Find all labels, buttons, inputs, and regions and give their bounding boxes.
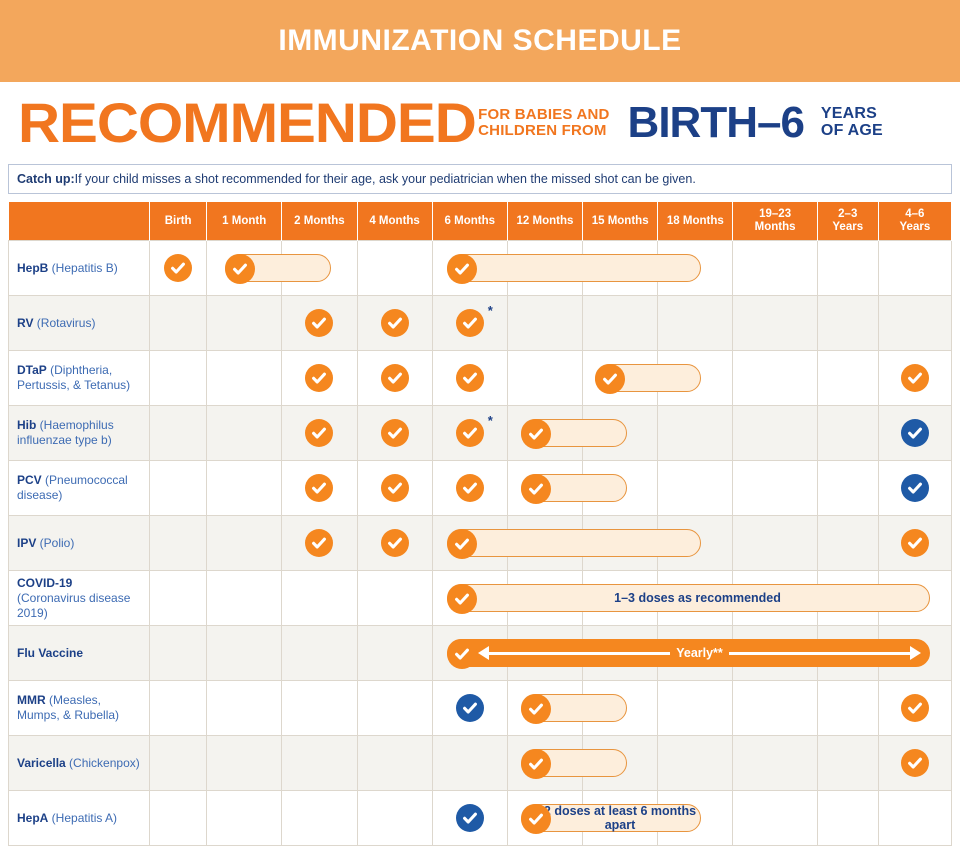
cell-ipv-19-23-months	[733, 516, 817, 571]
cell-content	[150, 241, 206, 295]
cell-mmr-4-months	[357, 681, 432, 736]
vaccine-abbr: Hib	[17, 418, 36, 432]
vaccine-label-hepa: HepA (Hepatitis A)	[9, 791, 150, 846]
vaccine-abbr: Varicella	[17, 756, 66, 770]
dose-check-orange-icon	[381, 419, 409, 447]
cell-mmr-2-months	[282, 681, 357, 736]
cell-mmr-2-3-years	[817, 681, 878, 736]
vaccine-abbr: COVID-19	[17, 576, 72, 590]
cell-hepa-2-months	[282, 791, 357, 846]
cell-ipv-15-months	[583, 516, 658, 571]
years-of-age-text: YEARS OF AGE	[821, 106, 883, 140]
vaccine-abbr: HepB	[17, 261, 48, 275]
table-row: DTaP (Diphtheria, Pertussis, & Tetanus)	[9, 351, 952, 406]
top-banner: IMMUNIZATION SCHEDULE	[0, 0, 960, 82]
cell-mmr-6-months	[432, 681, 507, 736]
vaccine-abbr: HepA	[17, 811, 48, 825]
years-line2: OF AGE	[821, 123, 883, 140]
table-header-row: Birth1 Month2 Months4 Months6 Months12 M…	[9, 202, 952, 241]
column-header-6-months: 6 Months	[432, 202, 507, 241]
vaccine-label-rv: RV (Rotavirus)	[9, 296, 150, 351]
cell-hib-2-months	[282, 406, 357, 461]
cell-rv-19-23-months	[733, 296, 817, 351]
dose-check-orange-icon	[381, 529, 409, 557]
dose-check-orange-icon	[901, 749, 929, 777]
cell-ipv-6-months	[432, 516, 507, 571]
cell-content	[879, 406, 951, 460]
catch-up-text: If your child misses a shot recommended …	[75, 172, 696, 186]
cell-hepa-1-month	[207, 791, 282, 846]
cell-pcv-6-months	[432, 461, 507, 516]
vaccine-label-mmr: MMR (Measles, Mumps, & Rubella)	[9, 681, 150, 736]
dose-check-orange-icon	[901, 364, 929, 392]
vaccine-label-pcv: PCV (Pneumococcal disease)	[9, 461, 150, 516]
dose-check-orange-icon	[381, 309, 409, 337]
cell-ipv-4-months	[357, 516, 432, 571]
dose-check-blue-icon	[456, 804, 484, 832]
cell-content	[282, 351, 356, 405]
cell-ipv-4-6-years	[878, 516, 951, 571]
table-row: HepA (Hepatitis A)	[9, 791, 952, 846]
vaccine-label-covid-19: COVID-19 (Coronavirus disease 2019)	[9, 571, 150, 626]
table-row: IPV (Polio)	[9, 516, 952, 571]
cell-hepb-2-months	[282, 241, 357, 296]
cell-content	[282, 296, 356, 350]
cell-rv-2-3-years	[817, 296, 878, 351]
cell-hepb-19-23-months	[733, 241, 817, 296]
schedule-table-wrap: Birth1 Month2 Months4 Months6 Months12 M…	[8, 202, 952, 846]
cell-hib-4-6-years	[878, 406, 951, 461]
cell-hib-4-months	[357, 406, 432, 461]
cell-hepb-18-months	[658, 241, 733, 296]
cell-ipv-12-months	[507, 516, 582, 571]
cell-rv-15-months	[583, 296, 658, 351]
birth-to-six-label: BIRTH–6	[628, 102, 804, 144]
table-header: Birth1 Month2 Months4 Months6 Months12 M…	[9, 202, 952, 241]
dose-check-orange-icon: *	[456, 419, 484, 447]
cell-hepb-4-months	[357, 241, 432, 296]
cell-content	[879, 351, 951, 405]
cell-rv-4-months	[357, 296, 432, 351]
cell-content	[433, 461, 507, 515]
cell-rv-2-months	[282, 296, 357, 351]
cell-content	[879, 516, 951, 570]
cell-hepa-6-months	[432, 791, 507, 846]
cell-hepa-4-6-years	[878, 791, 951, 846]
vaccine-full-name: (Rotavirus)	[33, 316, 95, 330]
cell-pcv-2-3-years	[817, 461, 878, 516]
vaccine-label-flu-vaccine: Flu Vaccine	[9, 626, 150, 681]
cell-hib-18-months	[658, 406, 733, 461]
cell-content	[879, 736, 951, 790]
cell-pcv-2-months	[282, 461, 357, 516]
column-header-12-months: 12 Months	[507, 202, 582, 241]
cell-hepa-18-months	[658, 791, 733, 846]
cell-mmr-birth	[150, 681, 207, 736]
cell-dtap-2-3-years	[817, 351, 878, 406]
cell-content: *	[433, 296, 507, 350]
cell-mmr-12-months	[507, 681, 582, 736]
cell-flu-vaccine-2-months	[282, 626, 357, 681]
cell-content	[433, 791, 507, 845]
cell-ipv-18-months	[658, 516, 733, 571]
table-corner-cell	[9, 202, 150, 241]
cell-hib-2-3-years	[817, 406, 878, 461]
cell-covid-19-4-6-years	[878, 571, 951, 626]
vaccine-full-name: (Polio)	[36, 536, 74, 550]
cell-hepa-2-3-years	[817, 791, 878, 846]
cell-dtap-15-months	[583, 351, 658, 406]
cell-hepb-1-month	[207, 241, 282, 296]
footnote-asterisk: *	[488, 304, 493, 317]
cell-rv-12-months	[507, 296, 582, 351]
dose-check-orange-icon	[901, 694, 929, 722]
years-line1: YEARS	[821, 106, 883, 123]
cell-flu-vaccine-birth	[150, 626, 207, 681]
table-row: HepB (Hepatitis B)	[9, 241, 952, 296]
dose-check-orange-icon	[164, 254, 192, 282]
recommended-word: RECOMMENDED	[18, 95, 476, 151]
dose-check-blue-icon	[901, 474, 929, 502]
cell-rv-6-months: *	[432, 296, 507, 351]
cell-hepb-4-6-years	[878, 241, 951, 296]
cell-hib-1-month	[207, 406, 282, 461]
column-header-1-month: 1 Month	[207, 202, 282, 241]
cell-mmr-19-23-months	[733, 681, 817, 736]
cell-covid-19-birth	[150, 571, 207, 626]
column-header-2-3-years: 2–3Years	[817, 202, 878, 241]
cell-covid-19-15-months	[583, 571, 658, 626]
cell-content	[358, 406, 432, 460]
column-header-19-23-months: 19–23Months	[733, 202, 817, 241]
vaccine-full-name: (Hepatitis A)	[48, 811, 117, 825]
cell-rv-birth	[150, 296, 207, 351]
cell-flu-vaccine-6-months	[432, 626, 507, 681]
cell-hib-15-months	[583, 406, 658, 461]
column-header-15-months: 15 Months	[583, 202, 658, 241]
cell-ipv-birth	[150, 516, 207, 571]
vaccine-abbr: IPV	[17, 536, 36, 550]
dose-check-orange-icon: *	[456, 309, 484, 337]
cell-ipv-2-3-years	[817, 516, 878, 571]
vaccine-full-name: (Chickenpox)	[66, 756, 140, 770]
for-babies-line1: FOR BABIES AND	[478, 107, 609, 123]
cell-pcv-1-month	[207, 461, 282, 516]
table-row: MMR (Measles, Mumps, & Rubella)	[9, 681, 952, 736]
vaccine-label-ipv: IPV (Polio)	[9, 516, 150, 571]
cell-flu-vaccine-2-3-years	[817, 626, 878, 681]
cell-pcv-4-6-years	[878, 461, 951, 516]
cell-pcv-12-months	[507, 461, 582, 516]
cell-hepa-12-months	[507, 791, 582, 846]
cell-dtap-birth	[150, 351, 207, 406]
dose-check-orange-icon	[456, 364, 484, 392]
vaccine-abbr: Flu Vaccine	[17, 646, 83, 660]
catch-up-note: Catch up: If your child misses a shot re…	[8, 164, 952, 194]
cell-dtap-4-months	[357, 351, 432, 406]
cell-pcv-18-months	[658, 461, 733, 516]
cell-covid-19-1-month	[207, 571, 282, 626]
cell-hepa-birth	[150, 791, 207, 846]
cell-hib-12-months	[507, 406, 582, 461]
cell-hepb-15-months	[583, 241, 658, 296]
cell-rv-18-months	[658, 296, 733, 351]
cell-hib-6-months: *	[432, 406, 507, 461]
headline-row: RECOMMENDED FOR BABIES AND CHILDREN FROM…	[0, 82, 960, 164]
column-header-18-months: 18 Months	[658, 202, 733, 241]
table-row: PCV (Pneumococcal disease)	[9, 461, 952, 516]
cell-covid-19-6-months	[432, 571, 507, 626]
table-row: RV (Rotavirus)*	[9, 296, 952, 351]
page-title: IMMUNIZATION SCHEDULE	[278, 24, 681, 58]
for-babies-text: FOR BABIES AND CHILDREN FROM	[478, 107, 609, 139]
cell-hib-birth	[150, 406, 207, 461]
dose-check-orange-icon	[305, 529, 333, 557]
cell-content	[358, 296, 432, 350]
cell-content	[358, 351, 432, 405]
cell-pcv-19-23-months	[733, 461, 817, 516]
schedule-table: Birth1 Month2 Months4 Months6 Months12 M…	[8, 202, 952, 846]
cell-content	[282, 516, 356, 570]
dose-check-orange-icon	[305, 309, 333, 337]
cell-ipv-2-months	[282, 516, 357, 571]
cell-dtap-12-months	[507, 351, 582, 406]
cell-flu-vaccine-4-6-years	[878, 626, 951, 681]
cell-content	[433, 351, 507, 405]
vaccine-abbr: RV	[17, 316, 33, 330]
dose-check-orange-icon	[305, 474, 333, 502]
cell-covid-19-18-months	[658, 571, 733, 626]
vaccine-abbr: MMR	[17, 693, 46, 707]
dose-check-orange-icon	[901, 529, 929, 557]
cell-flu-vaccine-12-months	[507, 626, 582, 681]
cell-hepb-6-months	[432, 241, 507, 296]
dose-check-orange-icon	[381, 474, 409, 502]
cell-mmr-15-months	[583, 681, 658, 736]
cell-hepb-2-3-years	[817, 241, 878, 296]
cell-content	[879, 461, 951, 515]
column-header-birth: Birth	[150, 202, 207, 241]
table-body: HepB (Hepatitis B)RV (Rotavirus)*DTaP (D…	[9, 241, 952, 846]
column-header-4-months: 4 Months	[357, 202, 432, 241]
cell-hepb-12-months	[507, 241, 582, 296]
cell-content: *	[433, 406, 507, 460]
cell-ipv-1-month	[207, 516, 282, 571]
cell-dtap-4-6-years	[878, 351, 951, 406]
cell-hepa-19-23-months	[733, 791, 817, 846]
cell-dtap-6-months	[432, 351, 507, 406]
cell-mmr-4-6-years	[878, 681, 951, 736]
cell-dtap-2-months	[282, 351, 357, 406]
immunization-schedule-page: IMMUNIZATION SCHEDULE RECOMMENDED FOR BA…	[0, 0, 960, 744]
cell-content	[282, 461, 356, 515]
vaccine-full-name: (Hepatitis B)	[48, 261, 117, 275]
cell-hepa-15-months	[583, 791, 658, 846]
cell-content	[433, 681, 507, 735]
cell-content	[282, 406, 356, 460]
vaccine-abbr: PCV	[17, 473, 42, 487]
dose-check-blue-icon	[456, 694, 484, 722]
cell-pcv-4-months	[357, 461, 432, 516]
cell-covid-19-2-3-years	[817, 571, 878, 626]
cell-dtap-18-months	[658, 351, 733, 406]
cell-covid-19-12-months	[507, 571, 582, 626]
cell-pcv-15-months	[583, 461, 658, 516]
column-header-4-6-years: 4–6Years	[878, 202, 951, 241]
vaccine-abbr: DTaP	[17, 363, 47, 377]
for-babies-line2: CHILDREN FROM	[478, 123, 609, 139]
cell-hepb-birth	[150, 241, 207, 296]
vaccine-label-dtap: DTaP (Diphtheria, Pertussis, & Tetanus)	[9, 351, 150, 406]
footnote-asterisk: *	[488, 414, 493, 427]
cell-covid-19-4-months	[357, 571, 432, 626]
cell-content	[358, 516, 432, 570]
cell-hib-19-23-months	[733, 406, 817, 461]
cell-covid-19-2-months	[282, 571, 357, 626]
dose-check-orange-icon	[381, 364, 409, 392]
cell-dtap-1-month	[207, 351, 282, 406]
vaccine-label-hib: Hib (Haemophilus influenzae type b)	[9, 406, 150, 461]
dose-check-orange-icon	[305, 419, 333, 447]
cell-flu-vaccine-4-months	[357, 626, 432, 681]
cell-hepa-4-months	[357, 791, 432, 846]
cell-rv-4-6-years	[878, 296, 951, 351]
vaccine-full-name: (Coronavirus disease 2019)	[17, 591, 130, 620]
table-row: Flu Vaccine	[9, 626, 952, 681]
cell-content	[358, 461, 432, 515]
cell-flu-vaccine-18-months	[658, 626, 733, 681]
cell-covid-19-19-23-months	[733, 571, 817, 626]
column-header-2-months: 2 Months	[282, 202, 357, 241]
dose-check-orange-icon	[305, 364, 333, 392]
cell-flu-vaccine-19-23-months	[733, 626, 817, 681]
cell-flu-vaccine-15-months	[583, 626, 658, 681]
cell-mmr-18-months	[658, 681, 733, 736]
dose-check-orange-icon	[456, 474, 484, 502]
dose-check-blue-icon	[901, 419, 929, 447]
table-row: Hib (Haemophilus influenzae type b)*	[9, 406, 952, 461]
cell-dtap-19-23-months	[733, 351, 817, 406]
catch-up-label: Catch up:	[17, 172, 75, 186]
table-row: COVID-19 (Coronavirus disease 2019)	[9, 571, 952, 626]
cell-flu-vaccine-1-month	[207, 626, 282, 681]
cell-pcv-birth	[150, 461, 207, 516]
cell-mmr-1-month	[207, 681, 282, 736]
cell-rv-1-month	[207, 296, 282, 351]
vaccine-label-hepb: HepB (Hepatitis B)	[9, 241, 150, 296]
cell-content	[879, 681, 951, 735]
